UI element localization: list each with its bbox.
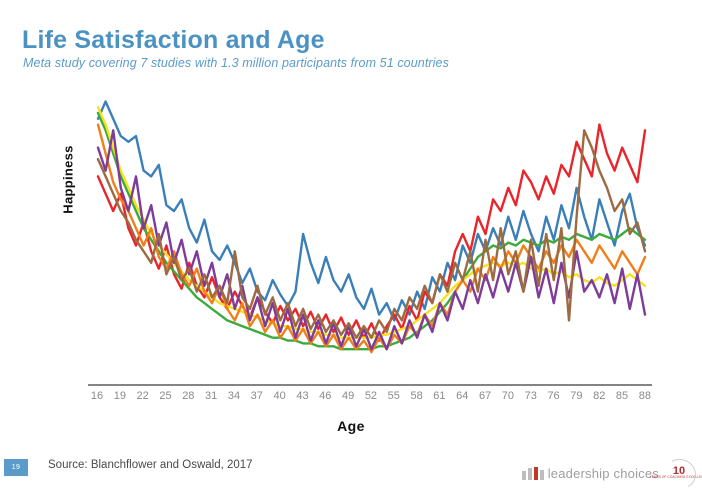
source-citation: Source: Blanchflower and Oswald, 2017 bbox=[48, 459, 253, 471]
x-tick-label: 58 bbox=[408, 390, 426, 402]
x-tick-label: 79 bbox=[567, 390, 585, 402]
x-tick-label: 73 bbox=[522, 390, 540, 402]
x-tick-label: 88 bbox=[636, 390, 654, 402]
x-tick-label: 76 bbox=[545, 390, 563, 402]
x-tick-label: 31 bbox=[202, 390, 220, 402]
page-number-badge: 19 bbox=[4, 459, 28, 476]
company-logo: leadership choices 10 YEARS OF COACHING … bbox=[522, 458, 694, 488]
chart-container bbox=[0, 78, 702, 408]
series-line-study-yellow bbox=[98, 107, 645, 337]
x-tick-label: 49 bbox=[339, 390, 357, 402]
slide: Life Satisfaction and Age Meta study cov… bbox=[0, 0, 702, 496]
x-tick-label: 25 bbox=[156, 390, 174, 402]
logo-text: leadership choices bbox=[548, 466, 659, 481]
x-tick-label: 19 bbox=[111, 390, 129, 402]
x-tick-label: 82 bbox=[590, 390, 608, 402]
x-tick-label: 16 bbox=[88, 390, 106, 402]
x-tick-label: 40 bbox=[271, 390, 289, 402]
page-title: Life Satisfaction and Age bbox=[22, 26, 325, 55]
series-line-study-green bbox=[98, 113, 645, 349]
x-tick-label: 52 bbox=[362, 390, 380, 402]
x-tick-label: 37 bbox=[248, 390, 266, 402]
x-tick-label: 55 bbox=[385, 390, 403, 402]
logo-bars-icon bbox=[522, 467, 544, 480]
x-axis-tick-labels: 1619222528313437404346495255586164677073… bbox=[88, 390, 654, 406]
x-tick-label: 67 bbox=[476, 390, 494, 402]
x-tick-label: 64 bbox=[453, 390, 471, 402]
x-tick-label: 70 bbox=[499, 390, 517, 402]
x-tick-label: 61 bbox=[430, 390, 448, 402]
x-axis-label: Age bbox=[0, 418, 702, 434]
x-tick-label: 43 bbox=[293, 390, 311, 402]
x-tick-label: 34 bbox=[225, 390, 243, 402]
x-tick-label: 22 bbox=[134, 390, 152, 402]
line-chart bbox=[0, 78, 702, 408]
series-line-study-brown bbox=[98, 130, 645, 337]
x-tick-label: 28 bbox=[179, 390, 197, 402]
anniversary-badge-icon: 10 YEARS OF COACHING EXCELLENCE bbox=[664, 459, 694, 487]
x-tick-label: 85 bbox=[613, 390, 631, 402]
y-axis-label: Happiness bbox=[61, 100, 76, 260]
page-subtitle: Meta study covering 7 studies with 1.3 m… bbox=[23, 56, 449, 70]
x-tick-label: 46 bbox=[316, 390, 334, 402]
